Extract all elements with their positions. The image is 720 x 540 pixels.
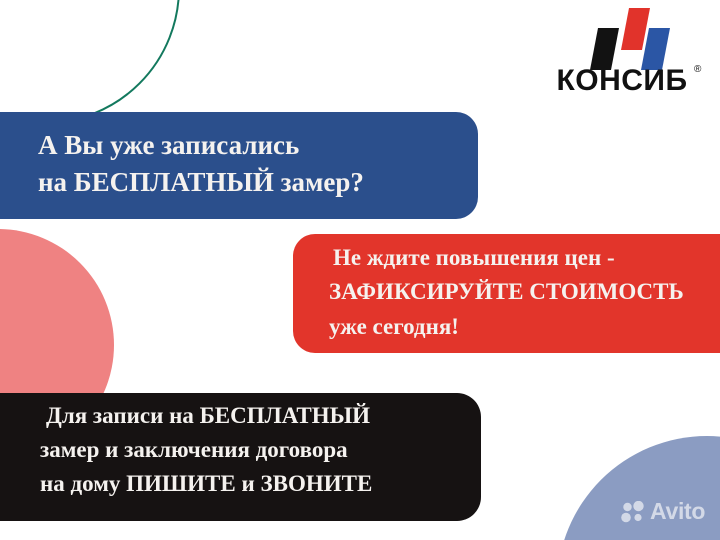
banner-line: ЗАФИКСИРУЙТЕ СТОИМОСТЬ <box>329 279 684 305</box>
banner-line: замер и заключения договора <box>40 437 348 463</box>
banner-price-lock-offer: Не ждите повышения цен - ЗАФИКСИРУЙТЕ СТ… <box>293 234 720 353</box>
banner-line: Не ждите повышения цен - <box>333 245 615 271</box>
banner-line: на дому ПИШИТЕ и ЗВОНИТЕ <box>40 471 372 497</box>
logo-wordmark: КОНСИБ <box>534 66 710 96</box>
company-logo: КОНСИБ ® <box>534 8 710 104</box>
banner-line: уже сегодня! <box>329 314 459 340</box>
teal-ring-decoration <box>0 0 180 124</box>
registered-trademark-mark: ® <box>694 64 701 75</box>
konsib-mark-icon <box>590 8 670 70</box>
banner-contact-call-to-action: Для записи на БЕСПЛАТНЫЙ замер и заключе… <box>0 393 481 521</box>
banner-free-measurement-question: А Вы уже записались на БЕСПЛАТНЫЙ замер? <box>0 112 478 219</box>
avito-dots-icon <box>621 501 645 523</box>
slate-circle-decoration <box>557 436 720 540</box>
banner-line: на БЕСПЛАТНЫЙ замер? <box>38 167 364 198</box>
advertisement-canvas: КОНСИБ ® А Вы уже записались на БЕСПЛАТН… <box>0 0 720 540</box>
avito-watermark: Avito <box>621 500 705 523</box>
banner-line: А Вы уже записались <box>38 130 299 161</box>
banner-line: Для записи на БЕСПЛАТНЫЙ <box>46 403 370 429</box>
avito-watermark-label: Avito <box>650 500 705 523</box>
